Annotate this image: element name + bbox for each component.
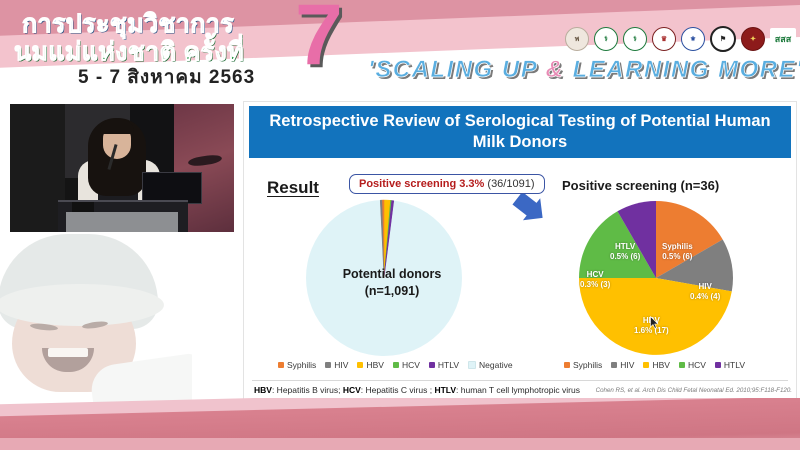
callout-highlight-text: Positive screening 3.3% (359, 178, 484, 190)
legend-label-hiv-left: HIV (334, 360, 348, 370)
blue-arrow-icon (512, 194, 560, 242)
logo-royal-seal: พ (565, 27, 589, 51)
potential-donors-chart: Potential donors (n=1,091) (292, 198, 492, 358)
legend-label-negative-left: Negative (479, 360, 513, 370)
logo-thaihealth: สสส (770, 28, 796, 50)
result-heading: Result (267, 178, 319, 198)
pie-slice-label-htlv: HTLV 0.5% (6) (610, 242, 640, 263)
legend-swatch-syphilis-right (564, 362, 570, 368)
legend-label-syphilis-left: Syphilis (287, 360, 316, 370)
logo-ministry-health-1: ⚕ (594, 27, 618, 51)
potential-donors-label-line2: (n=1,091) (292, 283, 492, 300)
callout-fraction-text: (36/1091) (487, 178, 534, 190)
legend-swatch-hcv-right (679, 362, 685, 368)
legend-swatch-hiv-left (325, 362, 331, 368)
logo-university-blue: ⚜ (681, 27, 705, 51)
legend-swatch-htlv-left (429, 362, 435, 368)
slide-divider (252, 380, 788, 381)
presenter-video-tile[interactable] (10, 104, 234, 232)
logo-ministry-health-2: ⚕ (623, 27, 647, 51)
pie-slice-label-hiv-name: HIV (690, 282, 720, 292)
footnote-hbv-abbr: HBV (254, 385, 272, 395)
legend-label-hbv-left: HBV (366, 360, 383, 370)
pie-slice-label-htlv-name: HTLV (610, 242, 640, 252)
potential-donors-center-label: Potential donors (n=1,091) (292, 266, 492, 300)
pie-slice-label-hcv-value: 0.3% (3) (580, 280, 610, 290)
footnote-hcv-text: : Hepatitis C virus ; (361, 385, 435, 395)
legend-swatch-hcv-left (393, 362, 399, 368)
conference-date: 5 - 7 สิงหาคม 2563 (78, 62, 255, 92)
legend-label-syphilis-right: Syphilis (573, 360, 602, 370)
background-baby-photo (0, 232, 192, 402)
legend-label-hbv-right: HBV (652, 360, 669, 370)
logo-red-emblem: ✦ (741, 27, 765, 51)
legend-label-hcv-right: HCV (688, 360, 706, 370)
mouse-cursor-icon (650, 316, 660, 329)
legend-swatch-negative-left (468, 361, 476, 369)
legend-item-hbv-left: HBV (357, 360, 383, 370)
positive-screening-callout: Positive screening 3.3% (36/1091) (349, 174, 545, 194)
logo-institute-crown: ♛ (652, 27, 676, 51)
positive-screening-chart: Syphilis 0.5% (6) HIV 0.4% (4) HBV 1.6% … (562, 198, 762, 360)
pie-slice-label-hcv-name: HCV (580, 270, 610, 280)
legend-item-negative-left: Negative (468, 360, 513, 370)
legend-label-hcv-left: HCV (402, 360, 420, 370)
pie-slice-label-hcv: HCV 0.3% (3) (580, 270, 610, 291)
legend-swatch-hiv-right (611, 362, 617, 368)
sponsor-logos: พ ⚕ ⚕ ♛ ⚜ ⚑ ✦ สสส (565, 26, 796, 52)
reference-citation: Cohen RS, et al. Arch Dis Child Fetal Ne… (592, 387, 792, 394)
legend-label-hiv-right: HIV (620, 360, 634, 370)
baby-hat-brim (0, 284, 164, 326)
pie-slice-label-syphilis-name: Syphilis (662, 242, 693, 252)
legend-swatch-htlv-right (715, 362, 721, 368)
footer-pink-band (0, 398, 800, 450)
legend-item-htlv-left: HTLV (429, 360, 459, 370)
legend-item-hiv-right: HIV (611, 360, 634, 370)
video-background-left (10, 104, 65, 232)
conference-slogan: 'SCALING UP & LEARNING MORE' (368, 56, 800, 84)
positive-screening-legend: Syphilis HIV HBV HCV HTLV (564, 360, 745, 370)
pie-slice-label-hiv: HIV 0.4% (4) (690, 282, 720, 303)
slide-presentation-screenshot: การประชุมวิชาการ นมแม่แห่งชาติ ครั้งที่ … (0, 0, 800, 450)
pie-slice-label-syphilis-value: 0.5% (6) (662, 252, 693, 262)
logo-council-black: ⚑ (710, 26, 736, 52)
legend-item-hbv-right: HBV (643, 360, 669, 370)
conference-banner: การประชุมวิชาการ นมแม่แห่งชาติ ครั้งที่ … (0, 0, 800, 95)
baby-teeth (48, 348, 88, 357)
legend-label-htlv-left: HTLV (438, 360, 459, 370)
podium-base (66, 212, 178, 232)
legend-item-htlv-right: HTLV (715, 360, 745, 370)
legend-item-hcv-left: HCV (393, 360, 420, 370)
footnote-htlv-text: : human T cell lymphotropic virus (456, 385, 580, 395)
pie-slice-label-syphilis: Syphilis 0.5% (6) (662, 242, 693, 263)
pie-slice-label-hiv-value: 0.4% (4) (690, 292, 720, 302)
slogan-text-part2: LEARNING MORE' (564, 56, 800, 83)
legend-item-syphilis-left: Syphilis (278, 360, 316, 370)
pie-slice-label-htlv-value: 0.5% (6) (610, 252, 640, 262)
slogan-ampersand: & (546, 56, 565, 83)
potential-donors-legend: Syphilis HIV HBV HCV HTLV Negative (278, 360, 513, 370)
legend-item-syphilis-right: Syphilis (564, 360, 602, 370)
legend-item-hcv-right: HCV (679, 360, 706, 370)
potential-donors-label-line1: Potential donors (292, 266, 492, 283)
legend-swatch-hbv-left (357, 362, 363, 368)
legend-swatch-syphilis-left (278, 362, 284, 368)
footnote-hbv-text: : Hepatitis B virus; (272, 385, 343, 395)
presenter-hair-fringe (100, 120, 134, 134)
positive-screening-chart-title: Positive screening (n=36) (562, 178, 792, 193)
legend-label-htlv-right: HTLV (724, 360, 745, 370)
legend-swatch-hbv-right (643, 362, 649, 368)
footnote-hcv-abbr: HCV (343, 385, 361, 395)
conference-edition-number: 7 (295, 0, 343, 78)
slide-content-panel: Retrospective Review of Serological Test… (243, 101, 797, 409)
footer-stripe-base (0, 438, 800, 450)
slide-title: Retrospective Review of Serological Test… (249, 106, 791, 158)
legend-item-hiv-left: HIV (325, 360, 348, 370)
slogan-text-part1: 'SCALING UP (368, 56, 546, 83)
footnote-htlv-abbr: HTLV (434, 385, 456, 395)
